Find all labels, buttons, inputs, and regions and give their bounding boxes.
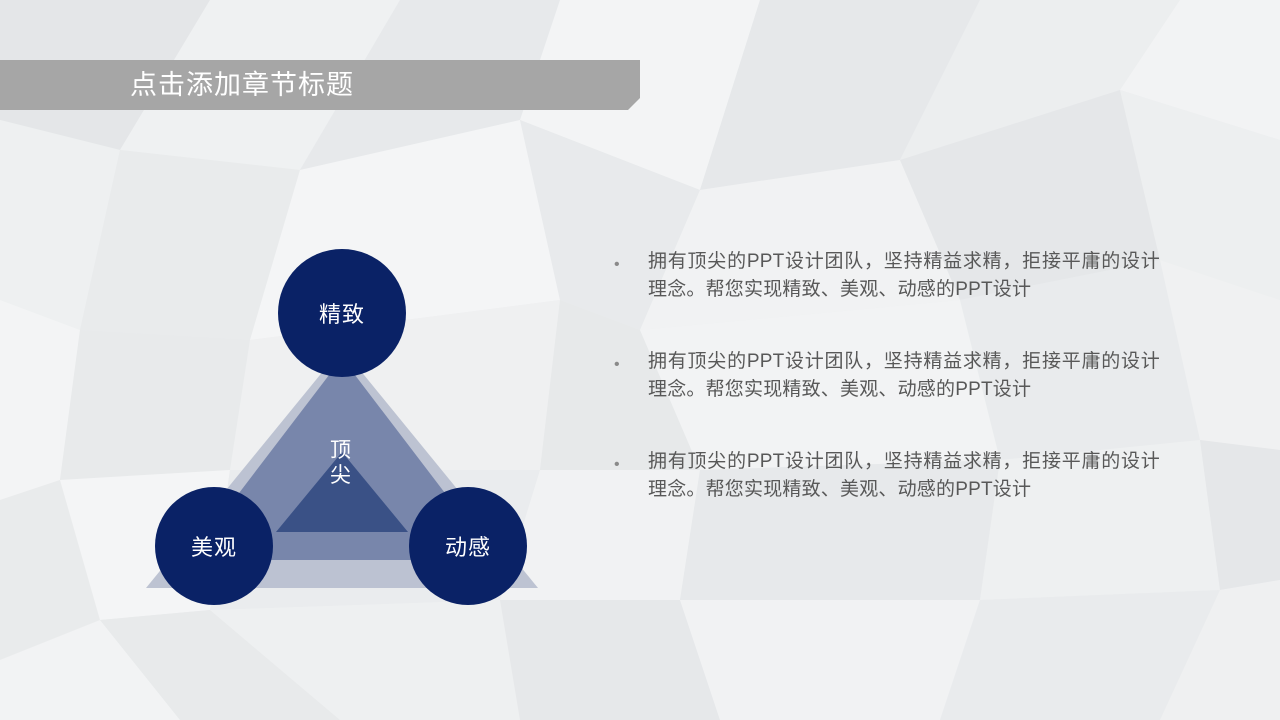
presentation-slide: 点击添加章节标题 精致 美观 动感 顶 尖 • 拥有顶尖的PPT设计团队，坚持精… <box>0 0 1280 720</box>
page-title: 点击添加章节标题 <box>130 72 354 99</box>
section-title-banner[interactable]: 点击添加章节标题 <box>0 60 640 110</box>
bullet-list: • 拥有顶尖的PPT设计团队，坚持精益求精，拒接平庸的设计理念。帮您实现精致、美… <box>614 248 1160 504</box>
node-label-bottom-left: 美观 <box>191 530 237 562</box>
bullet-marker-icon: • <box>614 348 648 373</box>
center-label-line-1: 顶 <box>306 438 376 463</box>
node-circle-bottom-right[interactable]: 动感 <box>409 487 527 605</box>
list-item[interactable]: • 拥有顶尖的PPT设计团队，坚持精益求精，拒接平庸的设计理念。帮您实现精致、美… <box>614 448 1160 504</box>
bullet-text: 拥有顶尖的PPT设计团队，坚持精益求精，拒接平庸的设计理念。帮您实现精致、美观、… <box>648 248 1160 304</box>
list-item[interactable]: • 拥有顶尖的PPT设计团队，坚持精益求精，拒接平庸的设计理念。帮您实现精致、美… <box>614 348 1160 404</box>
center-label: 顶 尖 <box>306 438 376 488</box>
bullet-marker-icon: • <box>614 448 648 473</box>
bullet-text: 拥有顶尖的PPT设计团队，坚持精益求精，拒接平庸的设计理念。帮您实现精致、美观、… <box>648 448 1160 504</box>
list-item[interactable]: • 拥有顶尖的PPT设计团队，坚持精益求精，拒接平庸的设计理念。帮您实现精致、美… <box>614 248 1160 304</box>
node-circle-top[interactable]: 精致 <box>278 249 406 377</box>
node-circle-bottom-left[interactable]: 美观 <box>155 487 273 605</box>
node-label-top: 精致 <box>319 297 365 329</box>
node-label-bottom-right: 动感 <box>445 530 491 562</box>
bullet-text: 拥有顶尖的PPT设计团队，坚持精益求精，拒接平庸的设计理念。帮您实现精致、美观、… <box>648 348 1160 404</box>
bullet-marker-icon: • <box>614 248 648 273</box>
center-label-line-2: 尖 <box>306 463 376 488</box>
